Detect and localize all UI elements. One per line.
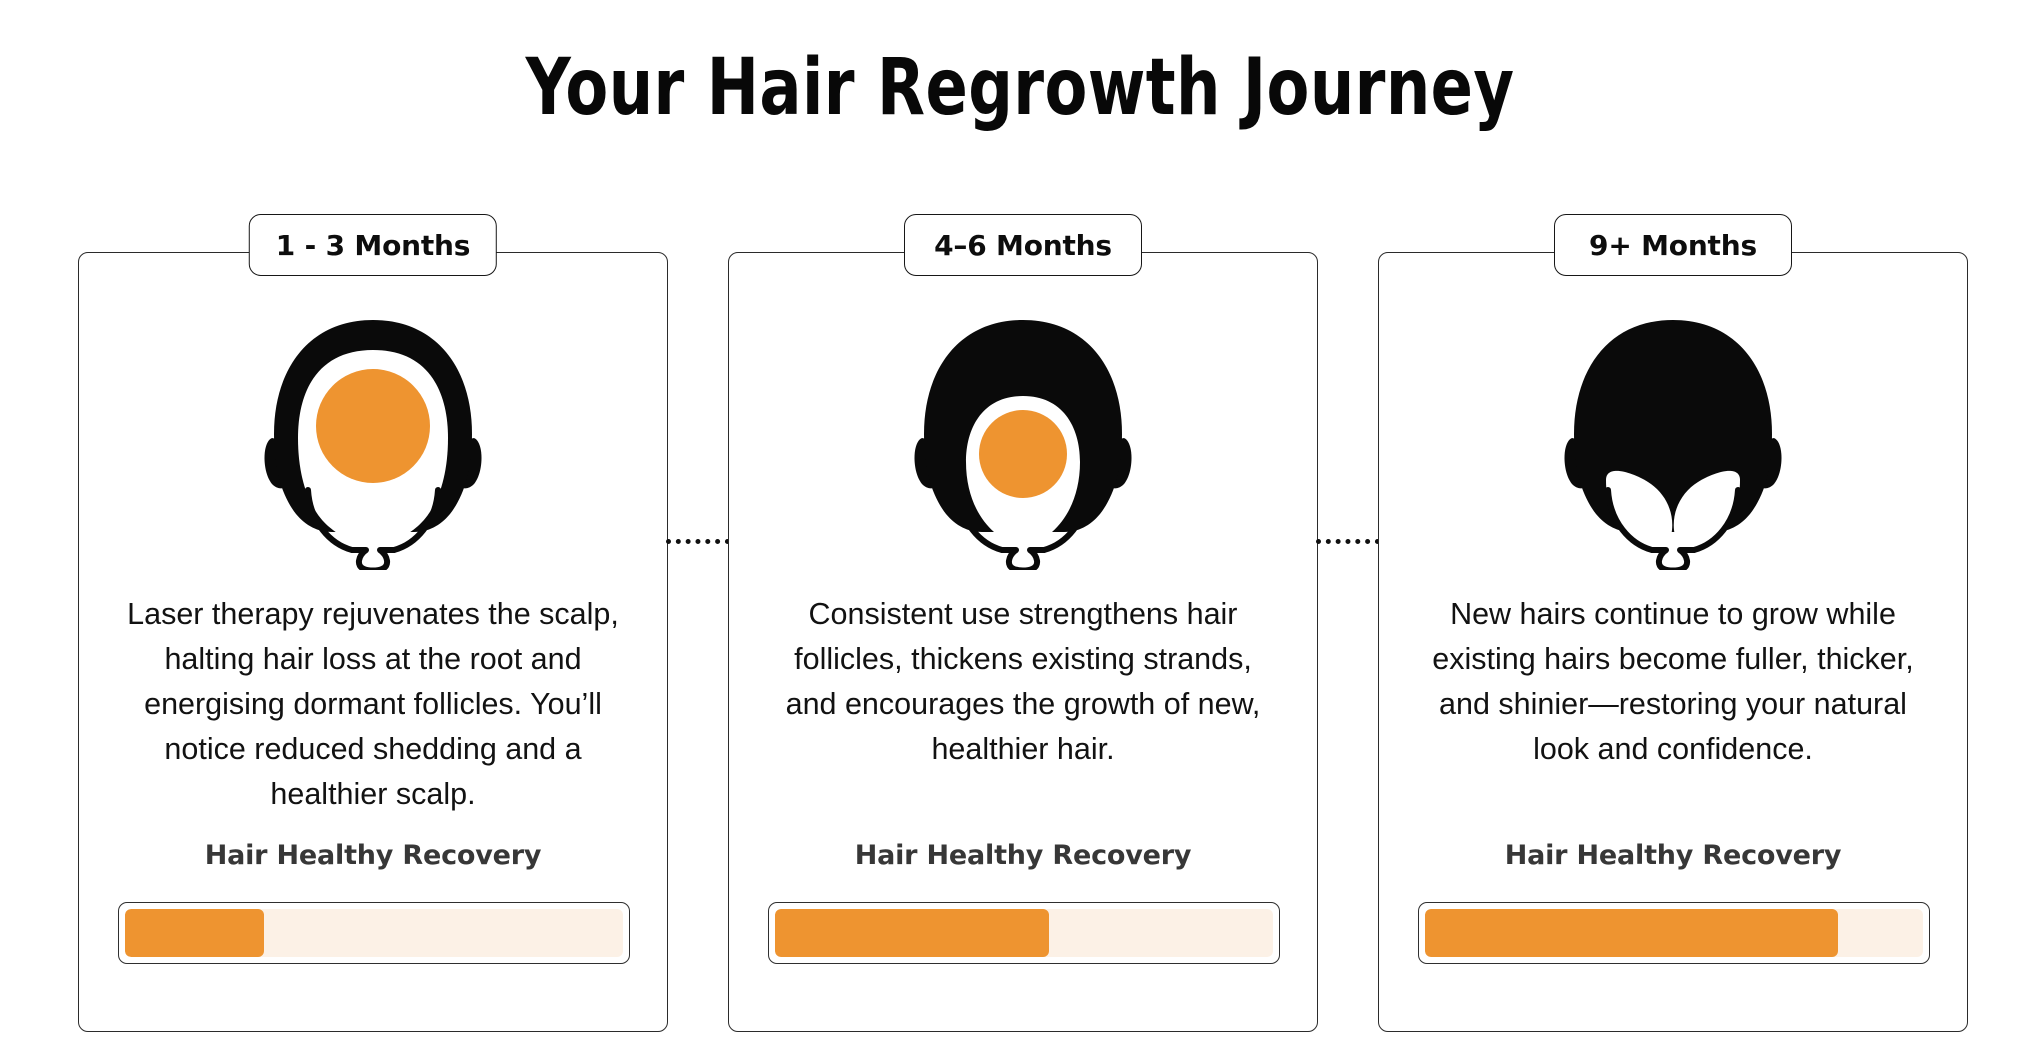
stage-card-3: 9+ Months New hai xyxy=(1378,252,1968,1032)
stage-description-2: Consistent use strengthens hair follicle… xyxy=(766,592,1280,772)
stage-connector-1-2 xyxy=(668,252,728,1032)
stage-description-1: Laser therapy rejuvenates the scalp, hal… xyxy=(116,592,630,817)
progress-track-3 xyxy=(1425,909,1923,957)
progress-fill-3 xyxy=(1425,909,1838,957)
progress-bar-2 xyxy=(768,902,1280,964)
hair-regrowth-journey-page: Your Hair Regrowth Journey 1 - 3 Months xyxy=(0,0,2040,1058)
progress-fill-2 xyxy=(775,909,1049,957)
stage-card-1: 1 - 3 Months xyxy=(78,252,668,1032)
page-title: Your Hair Regrowth Journey xyxy=(204,40,1836,136)
stage-badge-2: 4–6 Months xyxy=(904,214,1142,276)
progress-bar-3 xyxy=(1418,902,1930,964)
progress-track-1 xyxy=(125,909,623,957)
stage-description-3: New hairs continue to grow while existin… xyxy=(1416,592,1930,772)
stage-cards-row: 1 - 3 Months xyxy=(78,252,1968,1042)
stage-card-2: 4–6 Months Consistent use strengthens h xyxy=(728,252,1318,1032)
head-top-view-small-bald-spot-icon xyxy=(898,310,1148,570)
progress-bar-1 xyxy=(118,902,630,964)
progress-fill-1 xyxy=(125,909,264,957)
head-top-view-large-bald-spot-icon xyxy=(248,310,498,570)
stage-badge-1: 1 - 3 Months xyxy=(249,214,497,276)
progress-track-2 xyxy=(775,909,1273,957)
progress-label-3: Hair Healthy Recovery xyxy=(1378,840,1968,871)
head-top-view-full-hair-icon xyxy=(1548,310,1798,570)
progress-label-2: Hair Healthy Recovery xyxy=(728,840,1318,871)
progress-label-1: Hair Healthy Recovery xyxy=(78,840,668,871)
stage-badge-3: 9+ Months xyxy=(1554,214,1792,276)
stage-connector-2-3 xyxy=(1318,252,1378,1032)
